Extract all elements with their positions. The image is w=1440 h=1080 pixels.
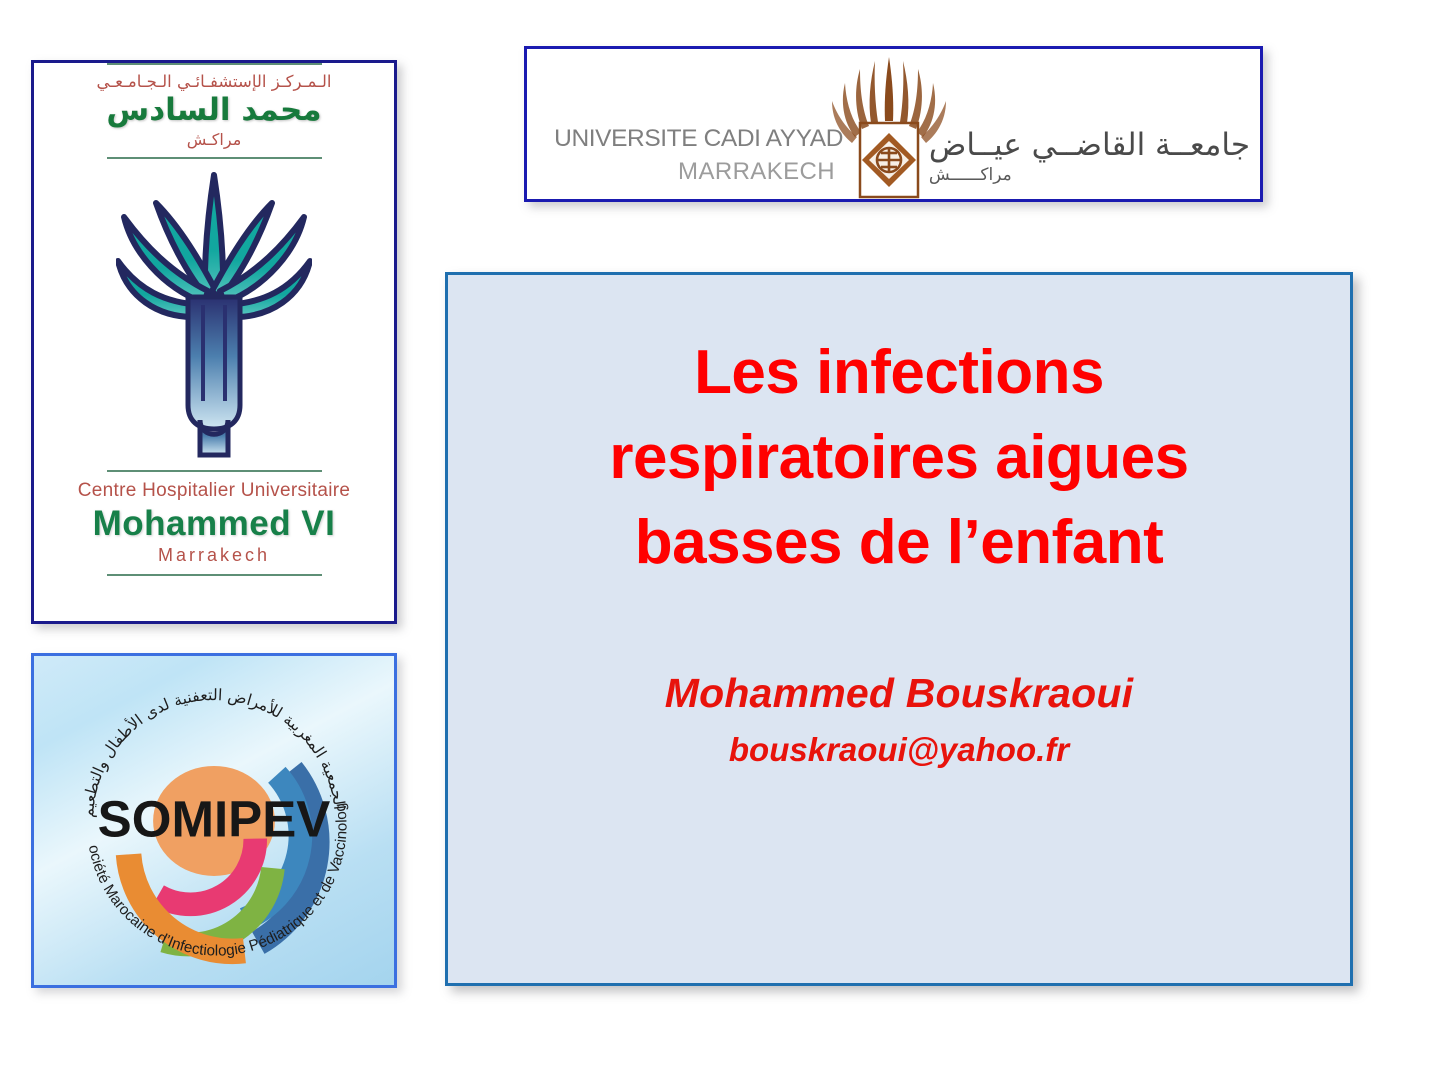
author-block: Mohammed Bouskraoui bouskraoui@yahoo.fr: [448, 670, 1350, 769]
university-logo-box: UNIVERSITE CADI AYYAD MARRAKECH: [524, 46, 1263, 202]
palm-tree-icon: [34, 165, 394, 470]
hospital-arabic-subtitle: الـمـركـز الإستشفـائـي الـجـامـعـي: [34, 72, 394, 91]
title-panel: Les infections respiratoires aigues bass…: [445, 272, 1353, 986]
divider-bottom: [107, 574, 322, 576]
university-french-city: MARRAKECH: [543, 158, 835, 186]
page-title: Les infections respiratoires aigues bass…: [448, 331, 1350, 586]
hospital-french-city: Marrakech: [34, 545, 394, 566]
title-line-2: respiratoires aigues: [448, 416, 1350, 501]
hospital-french-subtitle: Centre Hospitalier Universitaire: [34, 480, 394, 502]
author-email[interactable]: bouskraoui@yahoo.fr: [448, 731, 1350, 769]
somipev-acronym: SOMIPEV: [98, 791, 331, 848]
title-line-3: basses de l’enfant: [448, 501, 1350, 586]
hospital-logo-box: الـمـركـز الإستشفـائـي الـجـامـعـي محمد …: [31, 60, 397, 624]
divider-top: [107, 63, 322, 65]
divider-mid: [107, 157, 322, 159]
university-arabic-city: مراكــــــش: [929, 165, 1244, 185]
university-arabic-text: جامعــة القاضــي عيــاض مراكــــــش: [929, 127, 1250, 185]
author-name: Mohammed Bouskraoui: [448, 670, 1350, 717]
somipev-emblem-icon: SOMIPEV الجمعية المغربية للأمراض التعفني…: [34, 656, 394, 985]
hospital-french-name: Mohammed VI: [34, 504, 394, 544]
title-line-1: Les infections: [448, 331, 1350, 416]
university-french-text: UNIVERSITE CADI AYYAD MARRAKECH: [543, 125, 843, 186]
divider-lower: [107, 470, 322, 472]
society-logo-box: SOMIPEV الجمعية المغربية للأمراض التعفني…: [31, 653, 397, 988]
university-arabic-name: جامعــة القاضــي عيــاض: [929, 127, 1250, 163]
hospital-arabic-name: محمد السادس: [34, 92, 394, 128]
university-french-name: UNIVERSITE CADI AYYAD: [543, 125, 843, 153]
hospital-arabic-city: مراكـش: [34, 130, 394, 149]
